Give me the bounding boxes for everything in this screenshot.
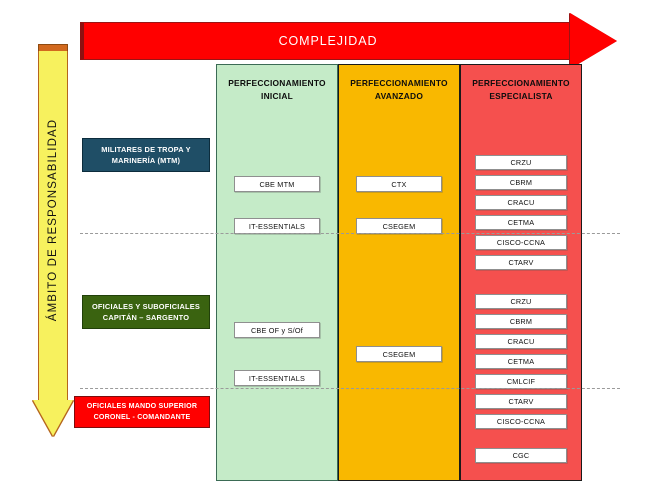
column-header-avanzado: PERFECCIONAMIENTO AVANZADO (339, 65, 459, 113)
band-mando-avanzado (339, 432, 459, 480)
role-label-line1: OFICIALES Y SUBOFICIALES (92, 301, 200, 313)
role-label-line1: MILITARES DE TROPA Y (101, 144, 191, 156)
band-mando-inicial (217, 432, 337, 480)
course-chip[interactable]: CRZU (475, 155, 567, 170)
column-perfeccionamiento-especialista: PERFECCIONAMIENTO ESPECIALISTA CRZU CBRM… (460, 64, 582, 481)
column-header-line1: PERFECCIONAMIENTO (472, 77, 570, 90)
responsibility-arrow-head-icon (33, 400, 73, 436)
course-chip[interactable]: CRZU (475, 294, 567, 309)
band-mando-especialista: CGC (461, 432, 581, 480)
course-chip[interactable]: CBRM (475, 314, 567, 329)
course-chip[interactable]: CETMA (475, 354, 567, 369)
band-oficiales-avanzado: CSEGEM (339, 282, 459, 432)
band-divider-oficiales-mando (80, 388, 620, 389)
column-header-line2: AVANZADO (375, 90, 423, 103)
band-divider-mtm-oficiales (80, 233, 620, 234)
column-header-especialista: PERFECCIONAMIENTO ESPECIALISTA (461, 65, 581, 113)
course-chip[interactable]: CISCO-CCNA (475, 414, 567, 429)
column-header-line2: ESPECIALISTA (489, 90, 552, 103)
course-chip[interactable]: CRACU (475, 195, 567, 210)
column-header-line2: INICIAL (261, 90, 293, 103)
responsibility-axis-arrow: ÁMBITO DE RESPONSABILIDAD (38, 44, 68, 436)
role-label-line2: CORONEL - COMANDANTE (94, 412, 191, 423)
role-label-militares-tropa-marineria: MILITARES DE TROPA Y MARINERÍA (MTM) (82, 138, 210, 172)
role-label-line2: MARINERÍA (MTM) (112, 155, 180, 167)
complexity-axis-arrow: COMPLEJIDAD (80, 22, 613, 60)
column-header-inicial: PERFECCIONAMIENTO INICIAL (217, 65, 337, 113)
role-label-line2: CAPITÁN – SARGENTO (103, 312, 189, 324)
complexity-axis-label: COMPLEJIDAD (80, 22, 576, 60)
course-chip[interactable]: IT-ESSENTIALS (234, 370, 320, 386)
course-chip[interactable]: CBRM (475, 175, 567, 190)
column-header-line1: PERFECCIONAMIENTO (350, 77, 448, 90)
course-chip[interactable]: IT-ESSENTIALS (234, 218, 320, 234)
column-perfeccionamiento-inicial: PERFECCIONAMIENTO INICIAL CBE MTM IT-ESS… (216, 64, 338, 481)
course-chip[interactable]: CBE OF y S/Of (234, 322, 320, 338)
course-chip[interactable]: CSEGEM (356, 346, 442, 362)
course-chip[interactable]: CTX (356, 176, 442, 192)
course-chip[interactable]: CTARV (475, 255, 567, 270)
column-header-line1: PERFECCIONAMIENTO (228, 77, 326, 90)
course-chip[interactable]: CISCO-CCNA (475, 235, 567, 250)
role-label-line1: OFICIALES MANDO SUPERIOR (87, 401, 197, 412)
course-chip[interactable]: CGC (475, 448, 567, 463)
course-chip[interactable]: CSEGEM (356, 218, 442, 234)
role-label-oficiales-suboficiales: OFICIALES Y SUBOFICIALES CAPITÁN – SARGE… (82, 295, 210, 329)
role-label-oficiales-mando-superior: OFICIALES MANDO SUPERIOR CORONEL - COMAN… (74, 396, 210, 428)
band-mtm-especialista: CRZU CBRM CRACU CETMA CISCO-CCNA CTARV (461, 113, 581, 282)
course-chip[interactable]: CETMA (475, 215, 567, 230)
course-chip[interactable]: CMLCIF (475, 374, 567, 389)
diagram-canvas: COMPLEJIDAD ÁMBITO DE RESPONSABILIDAD MI… (0, 0, 650, 440)
complexity-arrow-head-icon (570, 13, 617, 69)
band-oficiales-inicial: CBE OF y S/Of IT-ESSENTIALS (217, 282, 337, 432)
course-chip[interactable]: CTARV (475, 394, 567, 409)
band-mtm-avanzado: CTX CSEGEM (339, 113, 459, 282)
course-chip[interactable]: CBE MTM (234, 176, 320, 192)
band-mtm-inicial: CBE MTM IT-ESSENTIALS (217, 113, 337, 282)
responsibility-axis-label: ÁMBITO DE RESPONSABILIDAD (47, 45, 59, 395)
band-oficiales-especialista: CRZU CBRM CRACU CETMA CMLCIF CTARV CISCO… (461, 282, 581, 432)
column-perfeccionamiento-avanzado: PERFECCIONAMIENTO AVANZADO CTX CSEGEM CS… (338, 64, 460, 481)
course-chip[interactable]: CRACU (475, 334, 567, 349)
